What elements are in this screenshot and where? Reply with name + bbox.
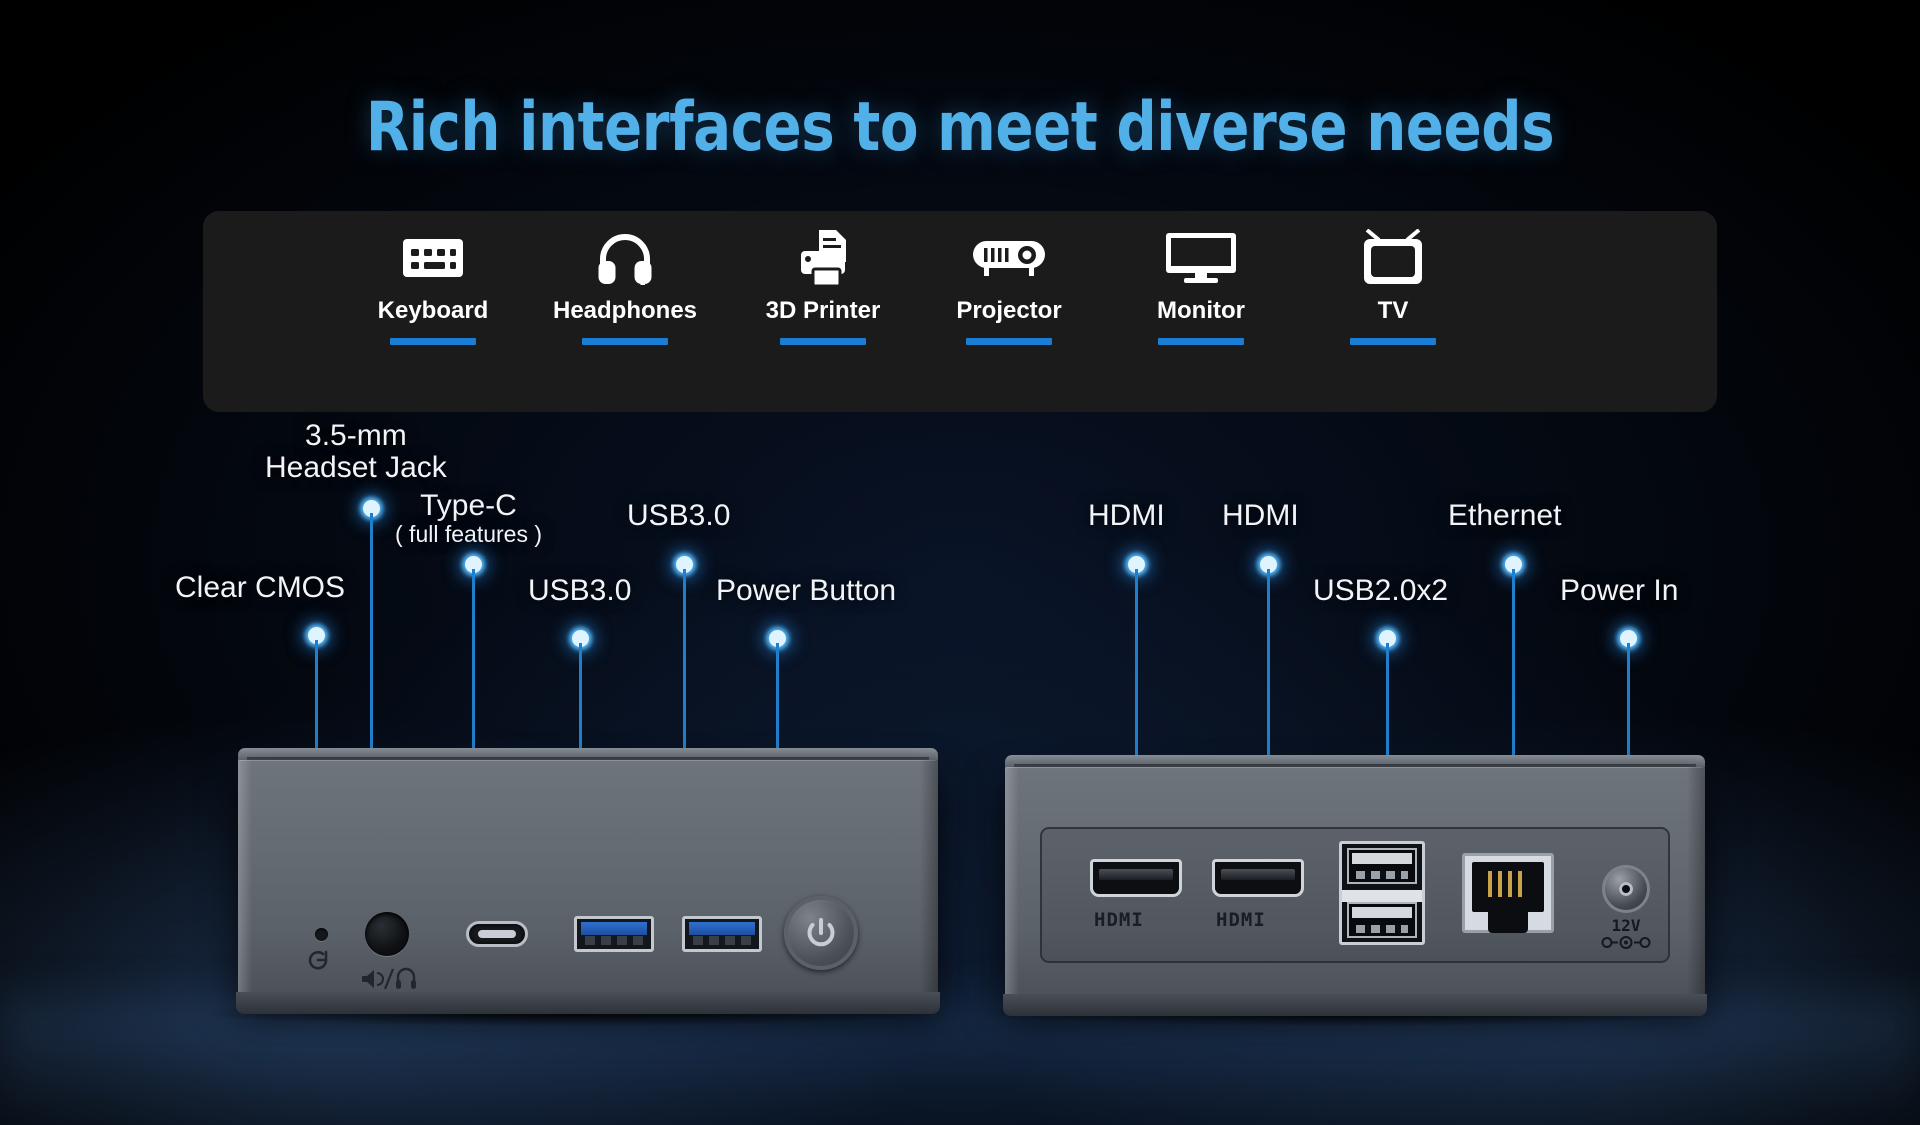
usb3-tongue — [581, 922, 647, 935]
page-title: Rich interfaces to meet diverse needs — [77, 88, 1843, 167]
usb2-contacts — [1356, 925, 1408, 933]
usb2-tongue — [1352, 853, 1412, 864]
usb-c-port[interactable] — [466, 921, 528, 947]
compat-underline — [780, 338, 866, 345]
usb3-port-1[interactable] — [574, 916, 654, 952]
compat-item-projector[interactable]: Projector — [929, 227, 1089, 345]
callout-label-line2: ( full features ) — [395, 522, 542, 546]
usb2-port-upper[interactable] — [1347, 848, 1417, 884]
printer-icon — [743, 227, 903, 289]
callout-label: Ethernet — [1448, 500, 1561, 532]
clear-cmos-pinhole[interactable] — [315, 928, 328, 941]
reset-arrow-icon — [306, 948, 332, 970]
usb3-contacts — [585, 936, 643, 945]
device-body: HDMI HDMI — [1005, 767, 1705, 999]
compat-underline — [966, 338, 1052, 345]
power-polarity-icon — [1590, 935, 1662, 953]
callout-label-line1: 3.5-mm — [305, 419, 407, 452]
tv-icon — [1313, 227, 1473, 289]
right-device-rear-panel: HDMI HDMI — [1005, 755, 1705, 1000]
monitor-icon — [1121, 227, 1281, 289]
hdmi-port-2[interactable] — [1212, 859, 1304, 897]
callout-label-line2: Headset Jack — [265, 452, 447, 484]
callout-label: 3.5-mm Headset Jack — [265, 420, 447, 483]
usb3-contacts — [693, 936, 751, 945]
hdmi-port-1[interactable] — [1090, 859, 1182, 897]
compat-item-tv[interactable]: TV — [1313, 227, 1473, 345]
callout-label: HDMI — [1088, 500, 1165, 532]
compat-label: Monitor — [1121, 297, 1281, 325]
usb3-tongue — [689, 922, 755, 935]
usb2-stacked-ports[interactable] — [1339, 841, 1425, 945]
projector-icon — [929, 227, 1089, 289]
usb2-tongue — [1352, 907, 1412, 918]
speaker-headphone-icon — [360, 967, 418, 991]
callout-label: USB2.0x2 — [1313, 575, 1448, 607]
compat-label: Keyboard — [353, 297, 513, 325]
power-in-barrel-jack[interactable] — [1602, 865, 1650, 913]
compat-item-3d-printer[interactable]: 3D Printer — [743, 227, 903, 345]
callout-label: USB3.0 — [528, 575, 631, 607]
audio-jack-3-5mm[interactable] — [365, 912, 409, 956]
hdmi-silkscreen-2: HDMI — [1216, 909, 1266, 931]
headphones-icon — [545, 227, 705, 289]
callout-label: HDMI — [1222, 500, 1299, 532]
callout-label: USB3.0 — [627, 500, 730, 532]
callout-label: Power Button — [716, 575, 896, 607]
compat-underline — [1350, 338, 1436, 345]
compat-underline — [390, 338, 476, 345]
rj45-gold-pins — [1488, 871, 1528, 897]
compat-underline — [582, 338, 668, 345]
rj45-cavity — [1472, 862, 1544, 912]
compat-label: Projector — [929, 297, 1089, 325]
usb3-port-2[interactable] — [682, 916, 762, 952]
hdmi-silkscreen-1: HDMI — [1094, 909, 1144, 931]
usb2-contacts — [1356, 871, 1408, 879]
device-body — [238, 760, 938, 998]
power-voltage-label: 12V — [1590, 917, 1662, 935]
usb2-port-lower[interactable] — [1347, 902, 1417, 938]
callout-label: Type-C ( full features ) — [395, 490, 542, 546]
compatibility-bar: Keyboard Headphones — [203, 211, 1717, 412]
compat-item-monitor[interactable]: Monitor — [1121, 227, 1281, 345]
compat-label: Headphones — [545, 297, 705, 325]
compat-item-headphones[interactable]: Headphones — [545, 227, 705, 345]
callout-label: Power In — [1560, 575, 1678, 607]
device-base — [1003, 994, 1707, 1016]
power-symbol-icon — [803, 915, 839, 951]
callout-label-line1: Type-C — [420, 489, 517, 522]
ethernet-rj45-port[interactable] — [1462, 853, 1554, 933]
callout-label: Clear CMOS — [175, 572, 345, 604]
usb2-divider — [1342, 890, 1422, 902]
device-base — [236, 992, 940, 1014]
power-in-silkscreen: 12V — [1590, 917, 1662, 954]
left-device-front-panel — [238, 748, 938, 998]
power-button[interactable] — [784, 896, 858, 970]
compat-label: TV — [1313, 297, 1473, 325]
keyboard-icon — [353, 227, 513, 289]
compat-item-keyboard[interactable]: Keyboard — [353, 227, 513, 345]
rj45-clip-slot — [1488, 911, 1528, 933]
rear-io-plate: HDMI HDMI — [1040, 827, 1670, 963]
compat-underline — [1158, 338, 1244, 345]
compat-label: 3D Printer — [743, 297, 903, 325]
